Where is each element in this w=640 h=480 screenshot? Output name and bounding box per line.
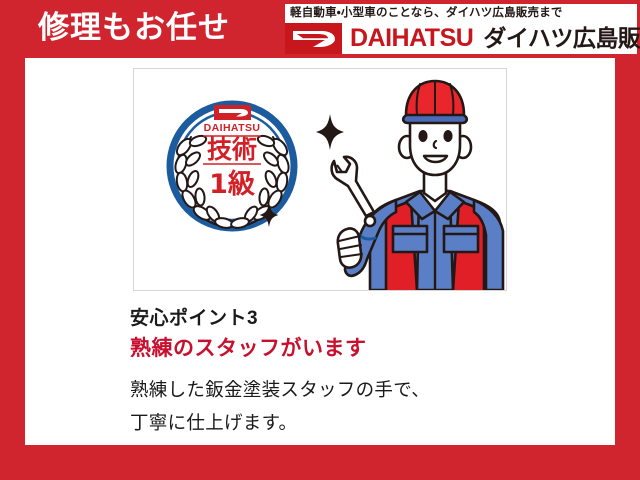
body-line: 丁寧に仕上げます。 xyxy=(130,406,600,439)
daihatsu-d-mark-icon xyxy=(285,23,342,54)
illustration-box: DAIHATSU 技術 1級 xyxy=(133,68,507,291)
headline: 熟練のスタッフがいます xyxy=(130,334,600,364)
svg-text:技術: 技術 xyxy=(207,135,257,164)
body-line: 熟練した鈑金塗装スタッフの手で、 xyxy=(130,373,600,406)
brand-logo-row: DAIHATSU ダイハツ広島販売 xyxy=(285,23,637,54)
sparkle-icon-upper xyxy=(316,114,344,150)
page-title: 修理もお任せ xyxy=(38,9,230,47)
brand-name-latin: DAIHATSU xyxy=(350,25,473,52)
mechanic-illustration: DAIHATSU 技術 1級 xyxy=(134,69,506,290)
header-band: 修理もお任せ 軽自動車・小型車のことなら、ダイハツ広島販売まで DAIHATSU… xyxy=(0,0,640,58)
mechanic-character xyxy=(338,81,503,290)
text-block: 安心ポイント3 熟練のスタッフがいます 熟練した鈑金塗装スタッフの手で、 丁寧に… xyxy=(130,306,600,439)
content-panel: DAIHATSU 技術 1級 xyxy=(25,58,615,445)
technician-grade-badge: DAIHATSU 技術 1級 xyxy=(170,104,294,229)
eyebrow-label: 安心ポイント3 xyxy=(130,306,600,332)
brand-tagline: 軽自動車・小型車のことなら、ダイハツ広島販売まで xyxy=(290,5,563,21)
brand-logo-block: 軽自動車・小型車のことなら、ダイハツ広島販売まで DAIHATSU ダイハツ広島… xyxy=(285,4,637,54)
advertisement-page: 修理もお任せ 軽自動車・小型車のことなら、ダイハツ広島販売まで DAIHATSU… xyxy=(0,0,640,480)
brand-name-jp: ダイハツ広島販売 xyxy=(483,25,640,52)
body-text: 熟練した鈑金塗装スタッフの手で、 丁寧に仕上げます。 xyxy=(130,373,600,439)
wrench-icon xyxy=(332,157,375,226)
svg-text:DAIHATSU: DAIHATSU xyxy=(204,122,261,134)
svg-text:1級: 1級 xyxy=(209,168,256,200)
